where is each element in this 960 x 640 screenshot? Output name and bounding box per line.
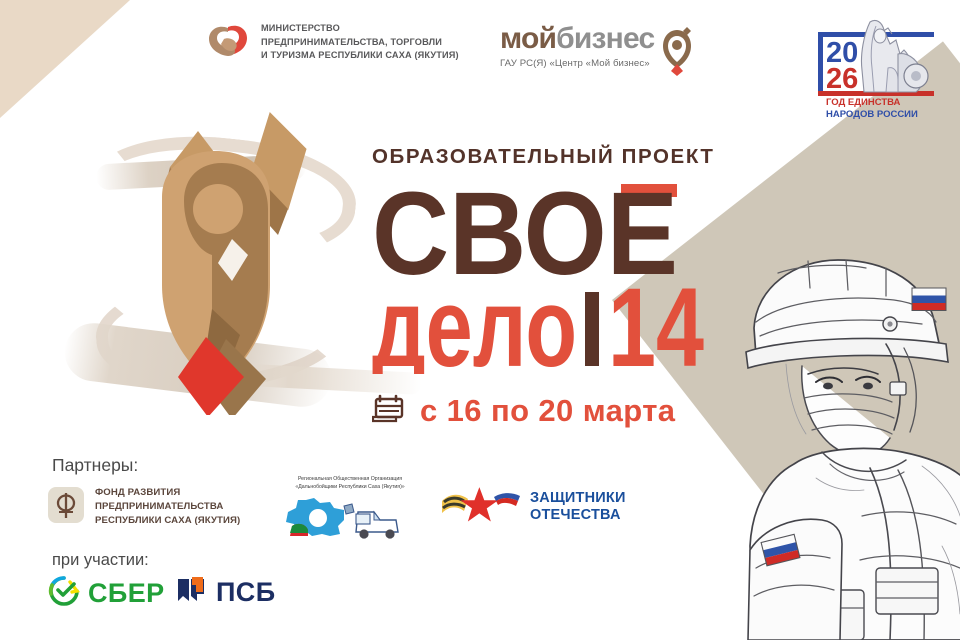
rocket-map-pin-illustration — [120, 105, 340, 415]
ministry-logo-text: МИНИСТЕРСТВО ПРЕДПРИНИМАТЕЛЬСТВА, ТОРГОВ… — [261, 22, 459, 62]
star-ribbon-icon — [440, 483, 524, 530]
svg-text:14: 14 — [608, 278, 704, 374]
participation-heading: при участии: — [52, 551, 149, 570]
poster-canvas: МИНИСТЕРСТВО ПРЕДПРИНИМАТЕЛЬСТВА, ТОРГОВ… — [0, 0, 960, 640]
participant-sber: СБЕР — [48, 575, 165, 612]
calendar-icon — [372, 392, 406, 429]
psb-mark-icon — [176, 575, 208, 610]
sber-checkmark-icon — [48, 575, 80, 612]
my-business-word-1: мой — [500, 22, 556, 55]
partner-zashchitniki-otechestva: ЗАЩИТНИКИ ОТЕЧЕСТВА — [440, 483, 626, 530]
ministry-logo: МИНИСТЕРСТВО ПРЕДПРИНИМАТЕЛЬСТВА, ТОРГОВ… — [208, 22, 459, 63]
svg-text:СВОЕ: СВОЕ — [372, 182, 678, 280]
rocket-pin-icon — [661, 24, 695, 81]
psb-label: ПСБ — [216, 577, 276, 608]
monument-sculpture-icon — [861, 20, 928, 92]
partner-defenders-text: ЗАЩИТНИКИ ОТЕЧЕСТВА — [530, 490, 626, 523]
my-business-subtitle: ГАУ РС(Я) «Центр «Мой бизнес» — [500, 58, 654, 69]
title-separator-bar — [585, 292, 599, 366]
top-left-corner-decoration — [0, 0, 130, 118]
partners-heading: Партнеры: — [52, 455, 138, 476]
title-line-2: дело 14 — [372, 278, 704, 379]
my-business-logo: мойбизнес ГАУ РС(Я) «Центр «Мой бизнес» — [500, 24, 695, 81]
handshake-icon — [208, 22, 248, 63]
event-dates-label: с 16 по 20 марта — [420, 393, 675, 429]
my-business-word-2: бизнес — [556, 22, 654, 55]
partner-fund-razvitiya: ФОНД РАЗВИТИЯ ПРЕДПРИНИМАТЕЛЬСТВА РЕСПУБ… — [48, 486, 240, 529]
soldier-sketch-illustration — [690, 216, 960, 640]
title-line-1: СВОЕ — [372, 182, 702, 285]
partner-truck-caption: Региональная Общественная Организация «Д… — [262, 476, 438, 492]
page-kicker: ОБРАЗОВАТЕЛЬНЫЙ ПРОЕКТ — [372, 145, 715, 169]
participant-psb: ПСБ — [176, 575, 276, 610]
svg-text:26: 26 — [826, 63, 858, 95]
truck-gear-icon — [262, 494, 438, 540]
event-dates: с 16 по 20 марта — [372, 392, 675, 429]
fund-monogram-icon — [48, 487, 84, 528]
svg-text:НАРОДОВ РОССИИ: НАРОДОВ РОССИИ — [826, 109, 918, 120]
emblem-2026: 20 26 ГОД ЕДИНСТВА НАРОДОВ РОССИИ — [812, 10, 940, 122]
sber-label: СБЕР — [88, 578, 165, 609]
partner-dalnoboyshchiki: Региональная Общественная Организация «Д… — [262, 476, 438, 540]
svg-text:ГОД ЕДИНСТВА: ГОД ЕДИНСТВА — [826, 97, 901, 108]
partner-fund-text: ФОНД РАЗВИТИЯ ПРЕДПРИНИМАТЕЛЬСТВА РЕСПУБ… — [95, 486, 240, 529]
svg-text:дело: дело — [372, 278, 577, 374]
